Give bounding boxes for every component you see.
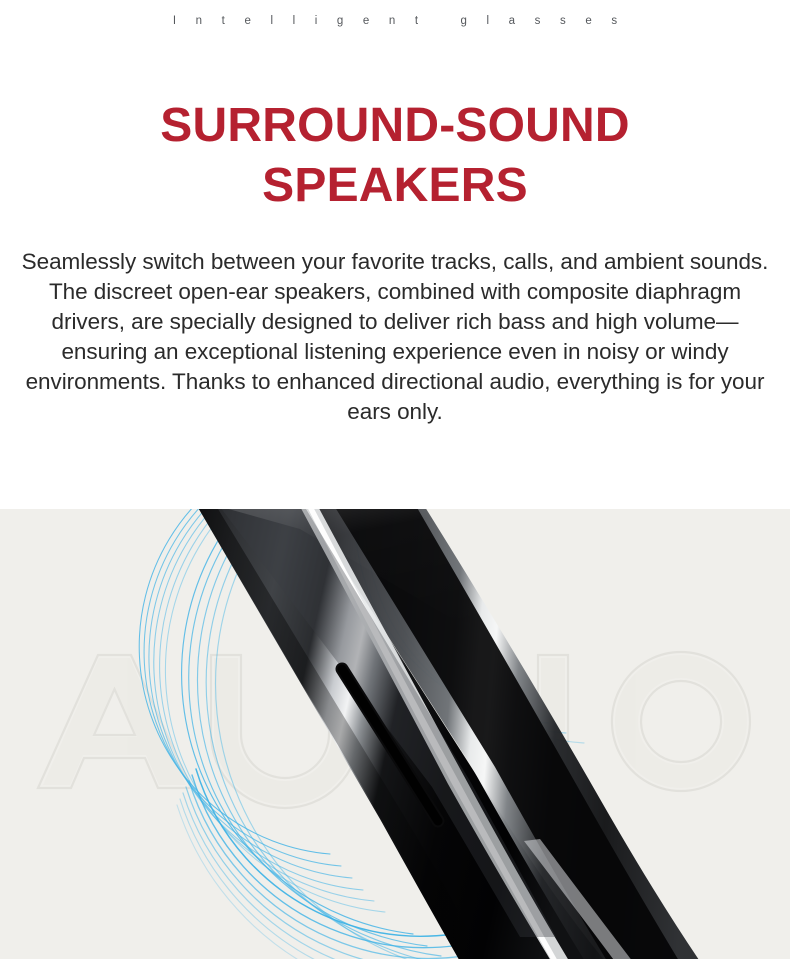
page-title: SURROUND-SOUND SPEAKERS — [50, 96, 740, 216]
kicker-text: Intelligent glasses — [153, 16, 636, 28]
hero-illustration — [0, 509, 790, 959]
kicker-bar: Intelligent glasses — [0, 0, 790, 44]
body-paragraph: Seamlessly switch between your favorite … — [20, 247, 770, 427]
product-feature-page: Intelligent glasses SURROUND-SOUND SPEAK… — [0, 0, 790, 959]
page-title-line-1: SURROUND-SOUND — [50, 96, 740, 156]
page-title-line-2: SPEAKERS — [50, 156, 740, 216]
hero-image-panel — [0, 509, 790, 959]
